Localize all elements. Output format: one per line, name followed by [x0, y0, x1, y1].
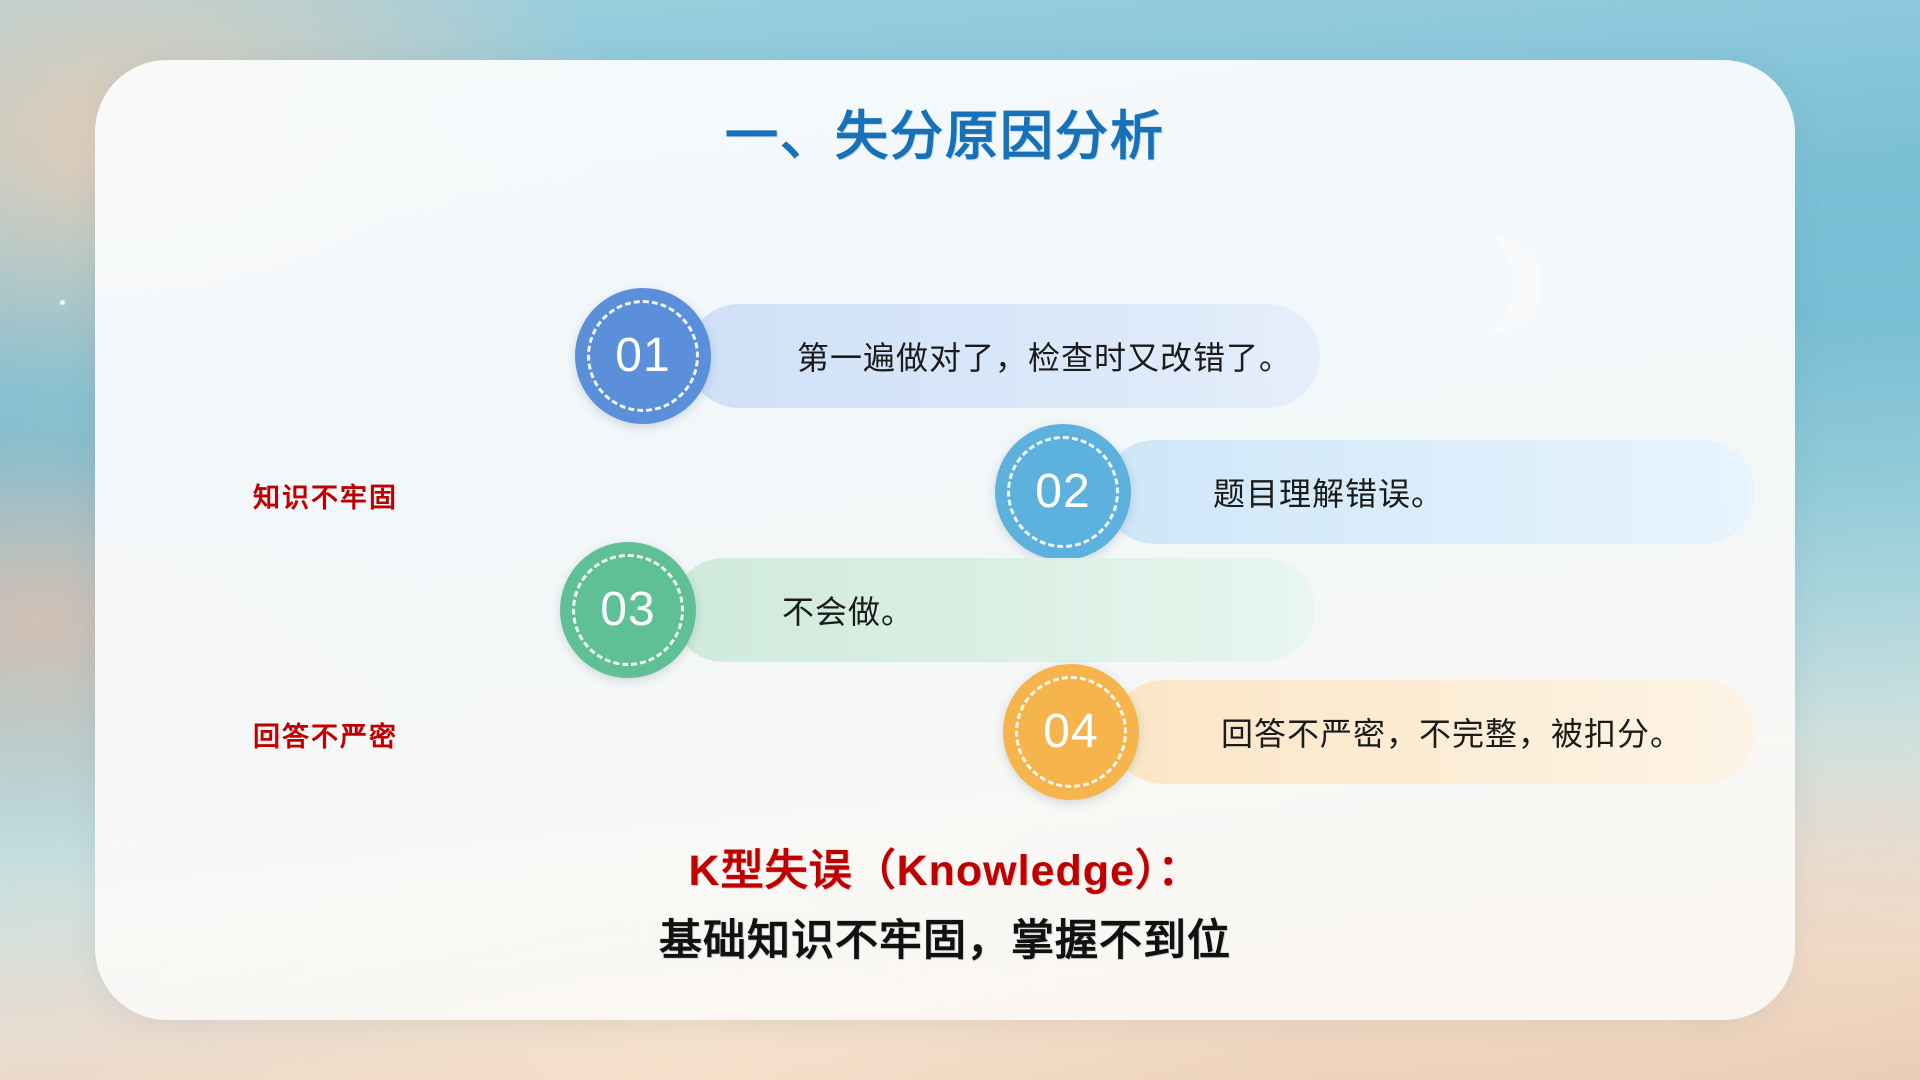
reason-pill-03[interactable]: 不会做。	[672, 558, 1315, 662]
reason-number-04: 04	[1043, 708, 1098, 756]
reason-badge-01[interactable]: 01	[575, 288, 711, 424]
reason-number-01: 01	[615, 332, 670, 380]
category-label-answer: 回答不严密	[253, 715, 398, 754]
conclusion-line-2: 基础知识不牢固，掌握不到位	[95, 910, 1795, 972]
slide-canvas: 一、失分原因分析 第一遍做对了，检查时又改错了。 01 题目理解错误。 02	[0, 0, 1920, 1080]
reason-badge-04[interactable]: 04	[1003, 664, 1139, 800]
reason-text-04: 回答不严密，不完整，被扣分。	[1221, 709, 1683, 755]
reason-text-01: 第一遍做对了，检查时又改错了。	[797, 333, 1292, 379]
reason-text-03: 不会做。	[782, 587, 914, 633]
badge-dashed-ring-icon: 04	[1015, 676, 1127, 788]
reason-number-02: 02	[1035, 468, 1090, 516]
star-decor	[60, 300, 65, 305]
reason-badge-03[interactable]: 03	[560, 542, 696, 678]
reason-row-03[interactable]: 不会做。 03	[560, 558, 1315, 662]
reason-pill-04[interactable]: 回答不严密，不完整，被扣分。	[1111, 680, 1755, 784]
reason-text-02: 题目理解错误。	[1213, 469, 1444, 515]
reason-badge-02[interactable]: 02	[995, 424, 1131, 560]
page-title: 一、失分原因分析	[95, 94, 1795, 170]
content-card: 一、失分原因分析 第一遍做对了，检查时又改错了。 01 题目理解错误。 02	[95, 60, 1795, 1020]
reason-pill-01[interactable]: 第一遍做对了，检查时又改错了。	[687, 304, 1320, 408]
badge-dashed-ring-icon: 02	[1007, 436, 1119, 548]
conclusion-block: K型失误（Knowledge）： 基础知识不牢固，掌握不到位	[95, 840, 1795, 973]
reason-number-03: 03	[600, 586, 655, 634]
reason-row-02[interactable]: 题目理解错误。 02	[995, 440, 1755, 544]
reason-row-01[interactable]: 第一遍做对了，检查时又改错了。 01	[575, 304, 1320, 408]
category-label-knowledge: 知识不牢固	[253, 476, 398, 515]
badge-dashed-ring-icon: 01	[587, 300, 699, 412]
reason-pill-02[interactable]: 题目理解错误。	[1103, 440, 1755, 544]
reason-row-04[interactable]: 回答不严密，不完整，被扣分。 04	[1003, 680, 1755, 784]
conclusion-line-1: K型失误（Knowledge）：	[95, 840, 1795, 902]
badge-dashed-ring-icon: 03	[572, 554, 684, 666]
